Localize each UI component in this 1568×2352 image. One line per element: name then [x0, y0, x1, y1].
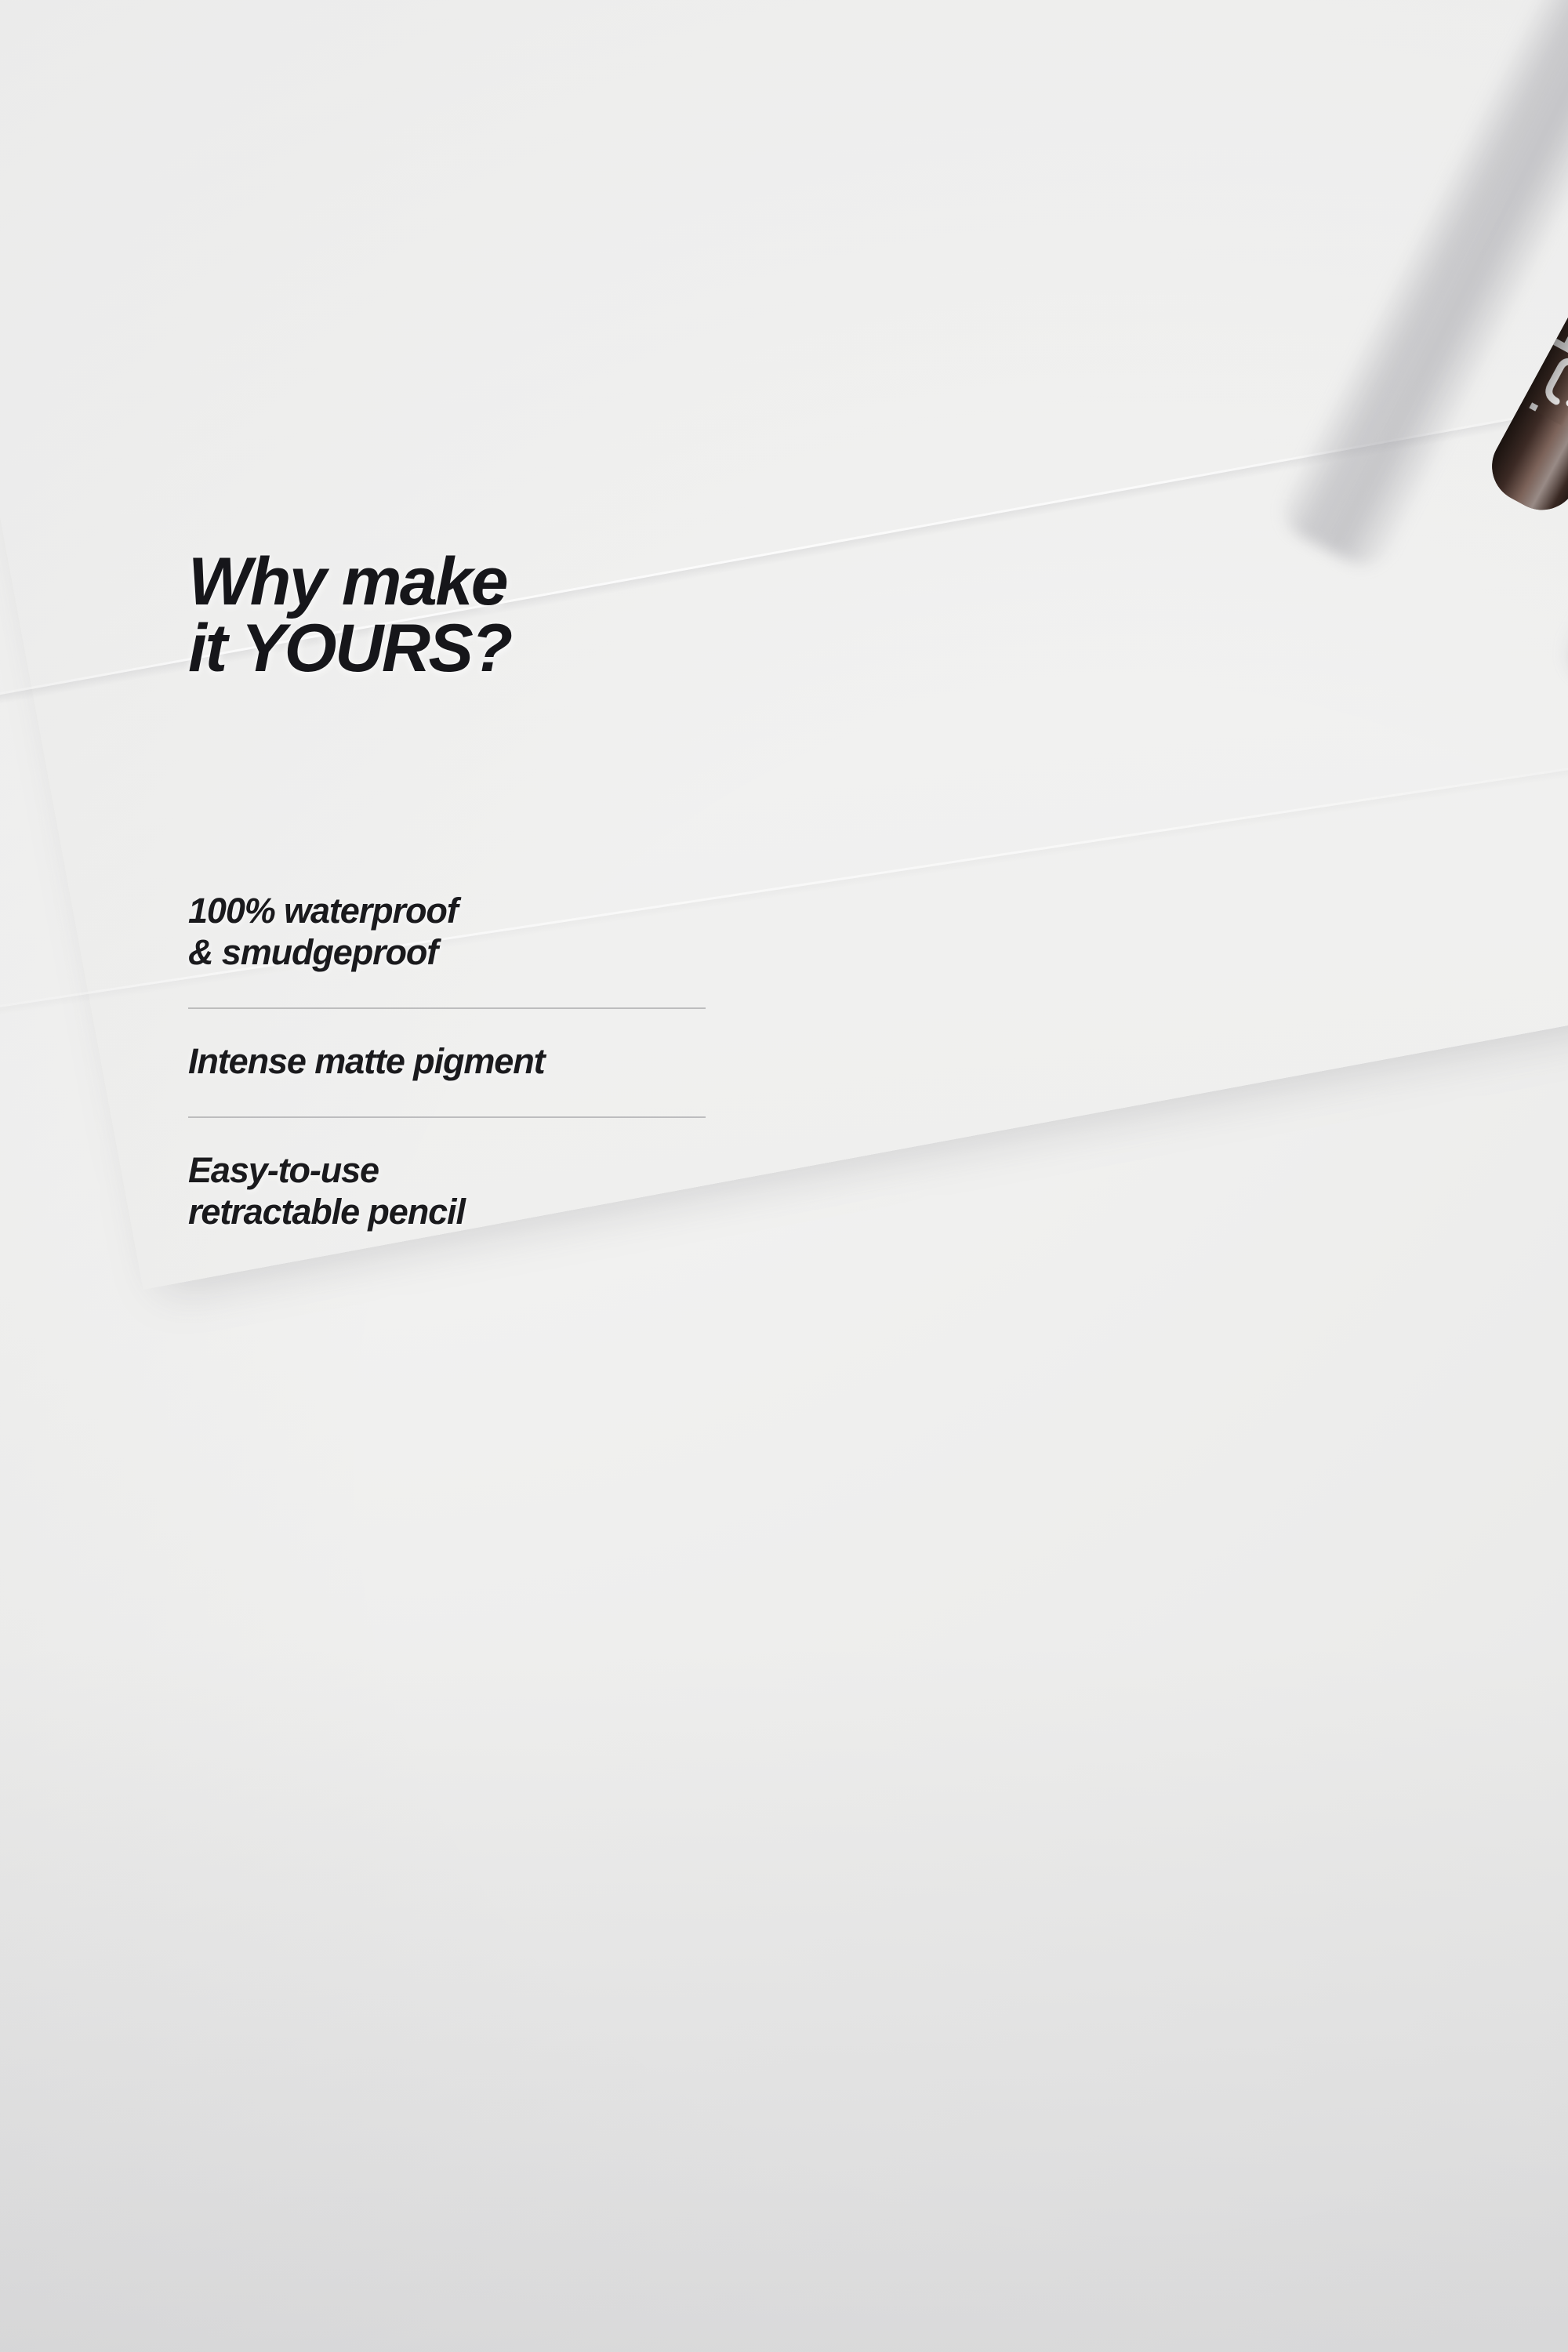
benefit-item-waterproof: 100% waterproof & smudgeproof — [188, 890, 729, 973]
benefit-item-pigment: Intense matte pigment — [188, 1040, 729, 1082]
benefit-3-line-2: retractable pencil — [188, 1191, 729, 1232]
headline-line-2: it YOURS? — [188, 615, 737, 682]
headline-line-1: Why make — [188, 544, 506, 619]
benefits-divider-1 — [188, 1007, 706, 1009]
benefit-2-line-1: Intense matte pigment — [188, 1041, 544, 1081]
product-marketing-image: Why make it YOURS? 100% waterproof & smu… — [0, 0, 1568, 2352]
benefit-1-line-2: & smudgeproof — [188, 931, 729, 973]
benefit-1-line-1: 100% waterproof — [188, 891, 458, 931]
benefits-list: 100% waterproof & smudgeproof Intense ma… — [188, 890, 729, 1232]
benefits-divider-2 — [188, 1116, 706, 1118]
headline-block: Why make it YOURS? — [188, 549, 737, 682]
benefit-item-retractable: Easy-to-use retractable pencil — [188, 1149, 729, 1232]
page-title: Why make it YOURS? — [188, 549, 737, 682]
benefit-3-line-1: Easy-to-use — [188, 1150, 379, 1190]
